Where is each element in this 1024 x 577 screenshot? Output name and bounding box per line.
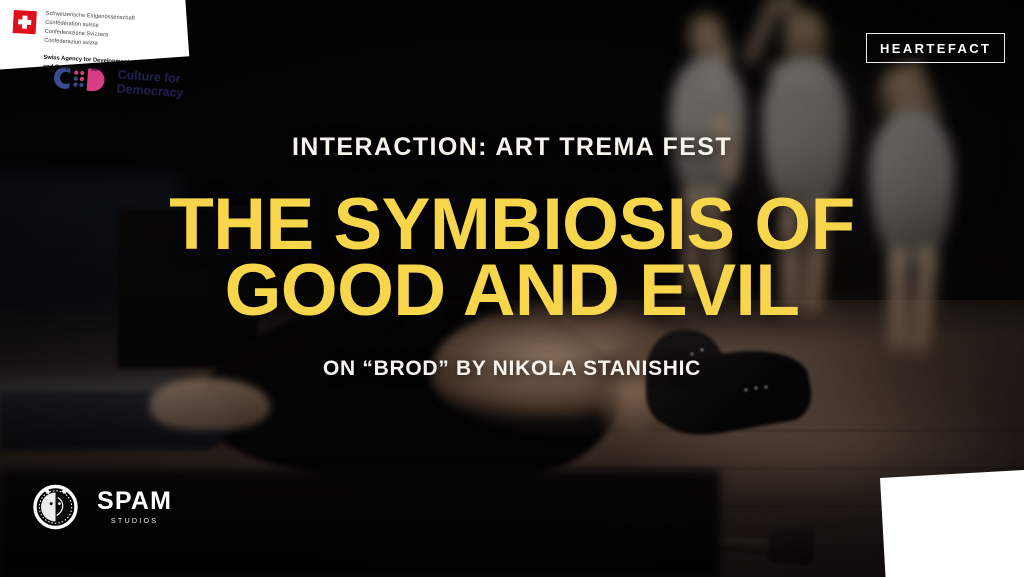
swiss-text-block: Schweizerische Eidgenossenschaft Confédé… — [42, 10, 135, 78]
festival-eyebrow-text: INTERACTION: ART TREMA FEST — [0, 133, 1024, 162]
poster-canvas: INTERACTION: ART TREMA FEST THE SYMBIOSI… — [0, 0, 1024, 577]
swiss-flag-icon — [13, 10, 37, 34]
heartefact-label: HEARTEFACT — [880, 41, 991, 56]
page-title: THE SYMBIOSIS OF GOOD AND EVIL — [0, 192, 1024, 323]
swiss-language-lines: Schweizerische Eidgenossenschaft Confédé… — [44, 10, 135, 51]
page-subtitle: ON “BROD” BY NIKOLA STANISHIC — [0, 357, 1024, 381]
title-line-2: GOOD AND EVIL — [0, 258, 1024, 324]
partner-logos-bottom-left: SPAM STUDIOS — [32, 483, 172, 530]
theatre-emblem-icon — [32, 483, 79, 530]
swiss-confederation-sdc-logo: Schweizerische Eidgenossenschaft Confédé… — [10, 8, 189, 80]
swiss-sdc-card — [880, 467, 1024, 577]
spam-sub-wordmark: STUDIOS — [111, 517, 158, 524]
heartefact-logo: HEARTEFACT — [866, 33, 1005, 63]
spam-studios-wordmark: SPAM STUDIOS — [97, 489, 172, 524]
spam-wordmark: SPAM — [97, 489, 172, 514]
